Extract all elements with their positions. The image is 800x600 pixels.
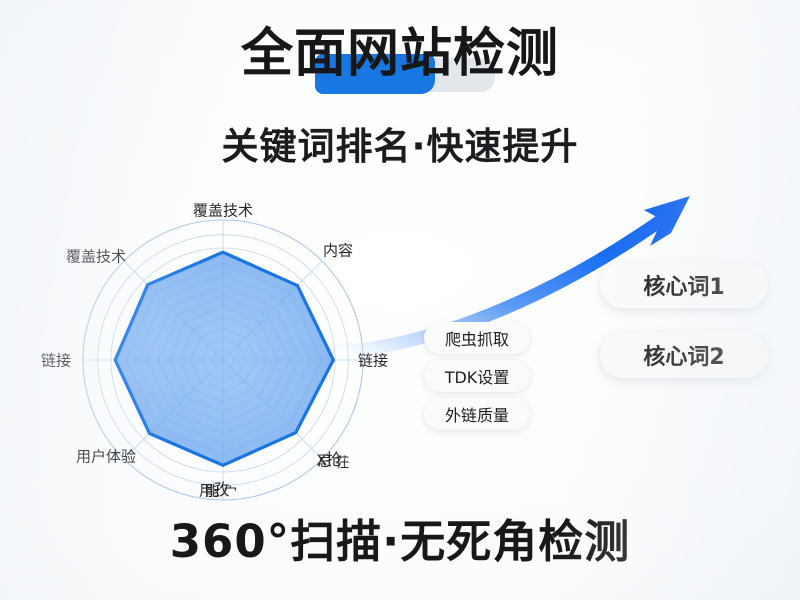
keyword-pill-0[interactable]: 核心词1: [600, 262, 768, 308]
keyword-pill-label: 核心词2: [643, 339, 724, 371]
radar-label-5: 用户体验: [76, 446, 136, 467]
page-title-text: 全面网站检测: [241, 24, 559, 84]
radar-label-0: 覆盖技术: [193, 200, 253, 221]
metric-pill-0[interactable]: 爬虫抓取: [424, 322, 530, 354]
keyword-pill-1[interactable]: 核心词2: [600, 332, 768, 378]
radar-label-4: 用能孜宀: [199, 480, 247, 501]
metric-pill-label: 爬虫抓取: [445, 326, 509, 350]
metric-pill-label: 外链质量: [445, 402, 509, 426]
bottom-tagline: 360°扫描·无死角检测: [0, 505, 800, 570]
keyword-pill-label: 核心词1: [643, 269, 724, 301]
page-subtitle: 关键词排名·快速提升: [0, 116, 800, 170]
metric-pill-label: TDK设置: [445, 364, 510, 388]
metric-pill-2[interactable]: 外链质量: [424, 398, 530, 430]
radar-label-7: 覆盖技术: [66, 246, 126, 267]
page-title: 全面网站检测: [241, 28, 559, 80]
title-block: 全面网站检测: [0, 28, 800, 80]
metric-pill-1[interactable]: TDK设置: [424, 360, 530, 392]
radar-label-6: 链接: [41, 350, 71, 371]
poster-canvas: 全面网站检测 关键词排名·快速提升 覆盖技术 内容 链接 X忌抢茌: [0, 0, 800, 600]
radar-label-3: X忌抢茌: [316, 450, 359, 471]
